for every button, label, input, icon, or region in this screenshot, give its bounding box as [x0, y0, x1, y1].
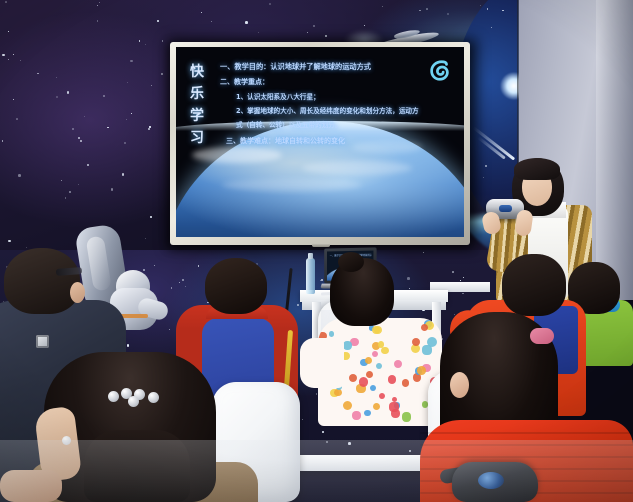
slide-line-2: 二、教学重点：: [220, 76, 454, 88]
patterned-sleeve: [300, 338, 344, 388]
pearl-hair-clip: [108, 388, 164, 402]
adult-head: [4, 248, 80, 314]
girl-ear: [450, 372, 469, 398]
water-bottle[interactable]: [306, 258, 315, 294]
polo-logo: [36, 335, 49, 348]
ring: [62, 436, 71, 445]
vr-headset-lens: [478, 472, 504, 489]
pink-hair-tie: [530, 328, 554, 344]
spiral-galaxy-logo-icon: [429, 60, 450, 81]
girl-hair: [330, 258, 394, 326]
boy-head: [205, 258, 267, 314]
woman-ponytail: [84, 430, 190, 502]
presentation-slide: 快 乐 学 习 一、教学目的：认识地球并了解地球的运动方式 二、教学重点： 1、…: [176, 47, 464, 237]
slide-body-text: 一、教学目的：认识地球并了解地球的运动方式 二、教学重点： 1、认识太阳系及八大…: [220, 61, 454, 150]
girl-hair-bun: [338, 252, 364, 272]
slide-line-5: 式（自转、公转）以及五带的划分。: [236, 120, 454, 131]
motto-char-1: 快: [190, 61, 216, 83]
screenshot-root: 快 乐 学 习 一、教学目的：认识地球并了解地球的运动方式 二、教学重点： 1、…: [0, 0, 633, 502]
child-arm-foreground: [0, 470, 62, 502]
slide-line-4: 2、掌握地球的大小、周长及经纬度的变化和划分方法，运动方: [236, 106, 454, 117]
slide-vertical-motto: 快 乐 学 习: [190, 61, 216, 149]
presenter-fringe: [514, 158, 560, 180]
motto-char-3: 学: [190, 105, 216, 127]
slide-line-1: 一、教学目的：认识地球并了解地球的运动方式: [220, 61, 454, 73]
display-foot: [312, 243, 330, 247]
child-head: [502, 254, 566, 316]
motto-char-4: 习: [190, 127, 216, 149]
slide-line-3: 1、认识太阳系及八大行星；: [236, 91, 454, 103]
adult-ear: [70, 282, 85, 303]
wall-shadow: [596, 0, 633, 300]
motto-char-2: 乐: [190, 83, 216, 105]
slide-line-6: 三、教学难点：地球自转和公转的变化: [226, 135, 454, 147]
display-screen[interactable]: 快 乐 学 习 一、教学目的：认识地球并了解地球的运动方式 二、教学重点： 1、…: [176, 47, 464, 237]
wall-display[interactable]: 快 乐 学 习 一、教学目的：认识地球并了解地球的运动方式 二、教学重点： 1、…: [170, 42, 470, 245]
